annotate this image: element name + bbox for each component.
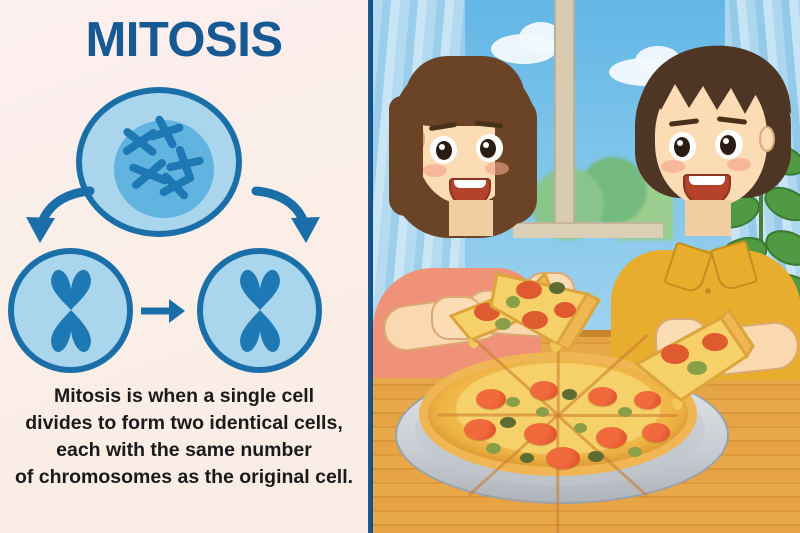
infographic-canvas: MITOSIS — [0, 0, 800, 533]
parent-cell — [76, 87, 242, 237]
daughter-cell-right — [197, 248, 322, 373]
caption-line: Mitosis is when a single cell — [4, 383, 364, 410]
illustration-panel — [373, 0, 800, 533]
olive — [536, 407, 549, 417]
girl-neck — [449, 200, 493, 236]
window-frame-vertical — [554, 0, 575, 230]
pepperoni — [642, 423, 670, 442]
girl-eye-highlight — [483, 142, 489, 148]
division-arrow-right-icon — [248, 185, 328, 255]
pepperoni — [524, 423, 557, 445]
equality-arrow-icon — [139, 295, 189, 327]
olive — [500, 417, 516, 428]
girl-blush — [423, 164, 447, 177]
daughter-cell-left — [8, 248, 133, 373]
pizza-slice-held-right — [625, 306, 755, 416]
pepperoni — [530, 381, 558, 400]
page-title: MITOSIS — [0, 16, 368, 65]
boy-eye-highlight — [723, 138, 729, 144]
boy-eye-highlight — [677, 140, 683, 146]
window-frame-horizontal — [513, 222, 663, 238]
nucleus — [114, 120, 214, 218]
pepperoni — [588, 387, 617, 406]
caption-text: Mitosis is when a single cell divides to… — [4, 383, 364, 491]
olive — [628, 447, 642, 457]
girl-blush — [485, 162, 509, 175]
olive — [574, 423, 587, 433]
pepperoni — [464, 419, 496, 440]
olive — [520, 453, 534, 463]
division-arrow-left-icon — [18, 185, 98, 255]
olive — [562, 389, 577, 400]
boy-shirt-button — [705, 288, 711, 294]
boy-neck — [685, 200, 731, 236]
pizza-slice-held-middle — [483, 250, 603, 360]
boy-blush — [727, 158, 751, 171]
olive — [486, 443, 501, 454]
pepperoni — [546, 447, 580, 469]
caption-line: each with the same number — [4, 437, 364, 464]
girl-eye-highlight — [439, 144, 445, 150]
chromosome-icon — [40, 268, 102, 354]
olive — [588, 451, 604, 462]
pepperoni — [476, 389, 506, 409]
caption-line: of chromosomes as the original cell. — [4, 464, 364, 491]
olive — [506, 397, 520, 407]
boy-hair-fringe — [631, 40, 797, 144]
caption-line: divides to form two identical cells, — [4, 410, 364, 437]
pepperoni — [596, 427, 627, 448]
boy-blush — [661, 160, 685, 173]
panel-divider — [368, 0, 373, 533]
girl-hair-side — [495, 96, 537, 224]
girl-hair-side — [389, 96, 423, 216]
mitosis-panel: MITOSIS — [0, 0, 368, 533]
chromosome-icon — [229, 268, 291, 354]
